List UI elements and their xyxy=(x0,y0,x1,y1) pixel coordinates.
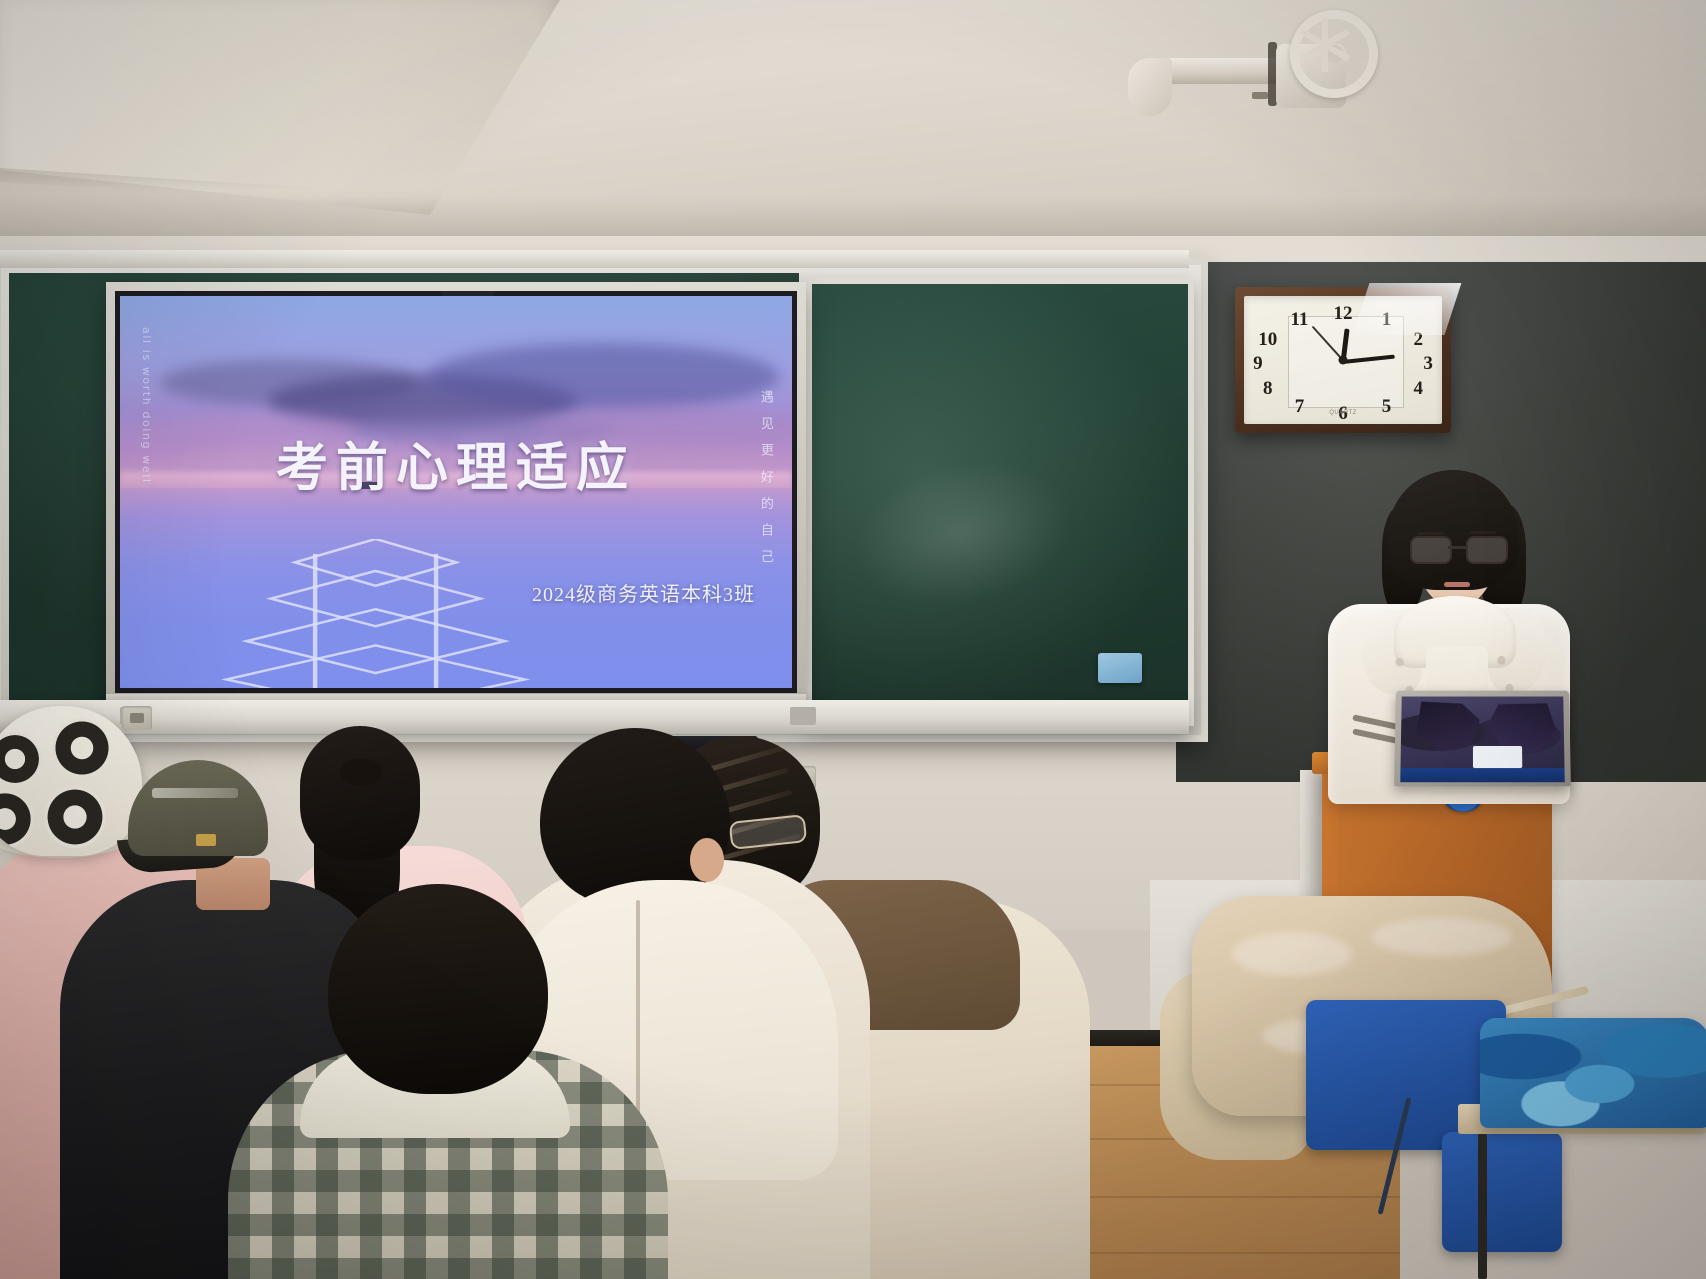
blackboard-top-rail xyxy=(0,250,1189,268)
clock-numeral: 10 xyxy=(1258,329,1277,351)
clock-numeral: 9 xyxy=(1253,353,1263,375)
board-magnet[interactable] xyxy=(1098,653,1142,683)
clock-center-pin xyxy=(1339,356,1348,365)
slide-vertical-text-left: all is worth doing well xyxy=(140,327,153,609)
projection-screen[interactable]: all is worth doing well 遇 见 更 好 的 自 己 考前… xyxy=(106,282,806,702)
presenter-hair xyxy=(1388,470,1518,590)
jacket-snap xyxy=(1396,658,1403,665)
clock-numeral: 8 xyxy=(1263,378,1273,400)
cap-buckle xyxy=(196,834,216,846)
wall-clock: 12 1 2 3 4 5 6 7 8 9 10 11 QUARTZ xyxy=(1235,287,1451,433)
presenter-mouth xyxy=(1444,582,1470,587)
pipe-elbow xyxy=(1128,58,1172,116)
slide-title: 考前心理适应 xyxy=(276,425,636,500)
camo-jacket xyxy=(1480,1018,1706,1128)
wall-outlet[interactable] xyxy=(122,706,152,730)
clock-numeral: 1 xyxy=(1382,309,1392,331)
pipe-screw xyxy=(1252,92,1268,99)
glasses-icon xyxy=(1410,536,1504,560)
clock-numeral: 3 xyxy=(1423,353,1433,375)
slide-vertical-text-right: 遇 见 更 好 的 自 己 xyxy=(757,390,776,610)
clock-numeral: 5 xyxy=(1382,396,1392,418)
presenter-eyebrow xyxy=(1418,532,1444,535)
chair[interactable] xyxy=(1442,1132,1562,1252)
cloud xyxy=(429,343,778,410)
student-head xyxy=(328,884,548,1094)
laptop[interactable] xyxy=(1394,691,1571,787)
water-reflection-lattice xyxy=(174,539,577,688)
cap-embroidery xyxy=(152,788,238,798)
tray-notch xyxy=(790,707,816,725)
presentation-slide: all is worth doing well 遇 见 更 好 的 自 己 考前… xyxy=(120,296,792,688)
clock-numeral: 7 xyxy=(1295,396,1305,418)
classroom-photo: all is worth doing well 遇 见 更 好 的 自 己 考前… xyxy=(0,0,1706,1279)
student-hair xyxy=(300,726,420,860)
slide-subtitle: 2024级商务英语本科3班 xyxy=(532,578,755,607)
clock-numeral: 4 xyxy=(1413,378,1423,400)
jacket-snap xyxy=(1498,656,1505,663)
chalk-smudge xyxy=(840,443,1084,626)
clock-brand-label: QUARTZ xyxy=(1329,410,1357,416)
student-ear xyxy=(690,838,724,882)
blackboard-chalk-tray xyxy=(0,700,1189,734)
laptop-lid-artwork xyxy=(1400,697,1565,783)
presenter-eyebrow xyxy=(1470,531,1496,534)
clock-numeral: 12 xyxy=(1334,303,1353,325)
clock-numeral: 2 xyxy=(1413,329,1423,351)
clock-face: 12 1 2 3 4 5 6 7 8 9 10 11 QUARTZ xyxy=(1244,296,1442,424)
desk-leg xyxy=(1478,1134,1487,1279)
hair-tie xyxy=(340,758,382,786)
clock-numeral: 11 xyxy=(1290,309,1308,331)
